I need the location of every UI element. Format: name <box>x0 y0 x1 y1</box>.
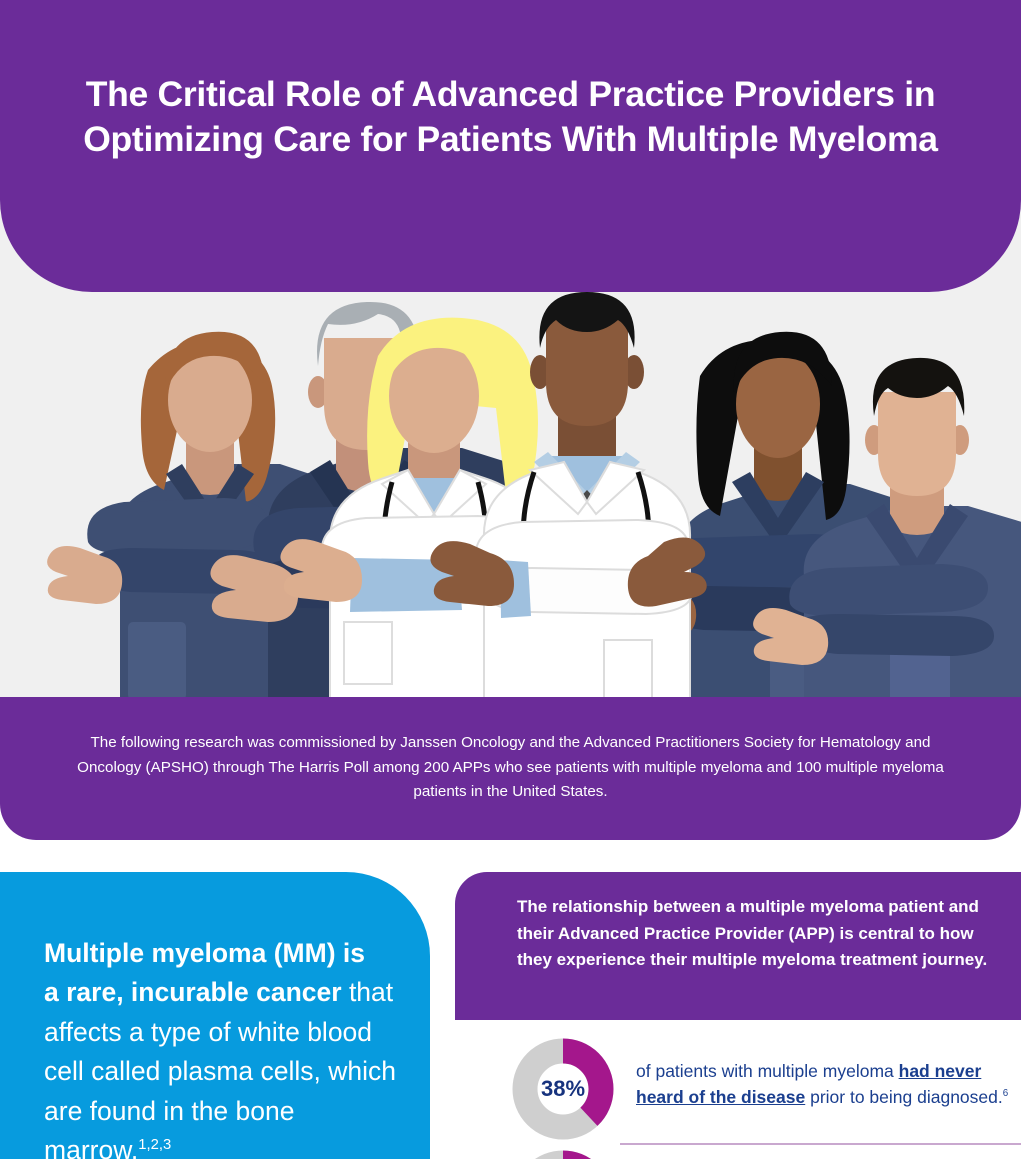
header-banner: The Critical Role of Advanced Practice P… <box>0 0 1021 292</box>
stat-description: of patients with multiple myeloma had ne… <box>636 1038 1016 1111</box>
mm-definition-panel: Multiple myeloma (MM) is a rare, incurab… <box>0 872 430 1159</box>
research-disclaimer-text: The following research was commissioned … <box>70 731 951 805</box>
stat-never-heard-of-disease: 38% of patients with multiple myeloma ha… <box>455 1020 1021 1140</box>
mm-definition-bold-line-2: a rare, incurable cancer <box>44 977 342 1007</box>
mm-definition-bold-line-1: Multiple myeloma (MM) is <box>44 938 365 968</box>
app-relationship-text: The relationship between a multiple myel… <box>517 894 995 974</box>
stat-citation: 6 <box>1003 1088 1008 1099</box>
donut-chart-38: 38% <box>512 1038 614 1140</box>
healthcare-team-illustration <box>0 292 1021 700</box>
stat-text-after: prior to being diagnosed. <box>805 1087 1003 1107</box>
donut-chart-partial <box>512 1150 614 1159</box>
stat-second-partial <box>455 1150 1021 1159</box>
statistics-list: 38% of patients with multiple myeloma ha… <box>455 1020 1021 1159</box>
app-relationship-card: The relationship between a multiple myel… <box>455 872 1021 1020</box>
mm-definition-citation: 1,2,3 <box>138 1138 171 1154</box>
page-title: The Critical Role of Advanced Practice P… <box>60 72 961 161</box>
research-disclaimer-band: The following research was commissioned … <box>0 697 1021 840</box>
infographic-page: The Critical Role of Advanced Practice P… <box>0 0 1021 1159</box>
donut-percent-label: 38% <box>512 1038 614 1140</box>
stat-divider <box>620 1143 1021 1145</box>
stat-text-before: of patients with multiple myeloma <box>636 1061 899 1081</box>
mm-definition-text: Multiple myeloma (MM) is a rare, incurab… <box>44 934 396 1159</box>
